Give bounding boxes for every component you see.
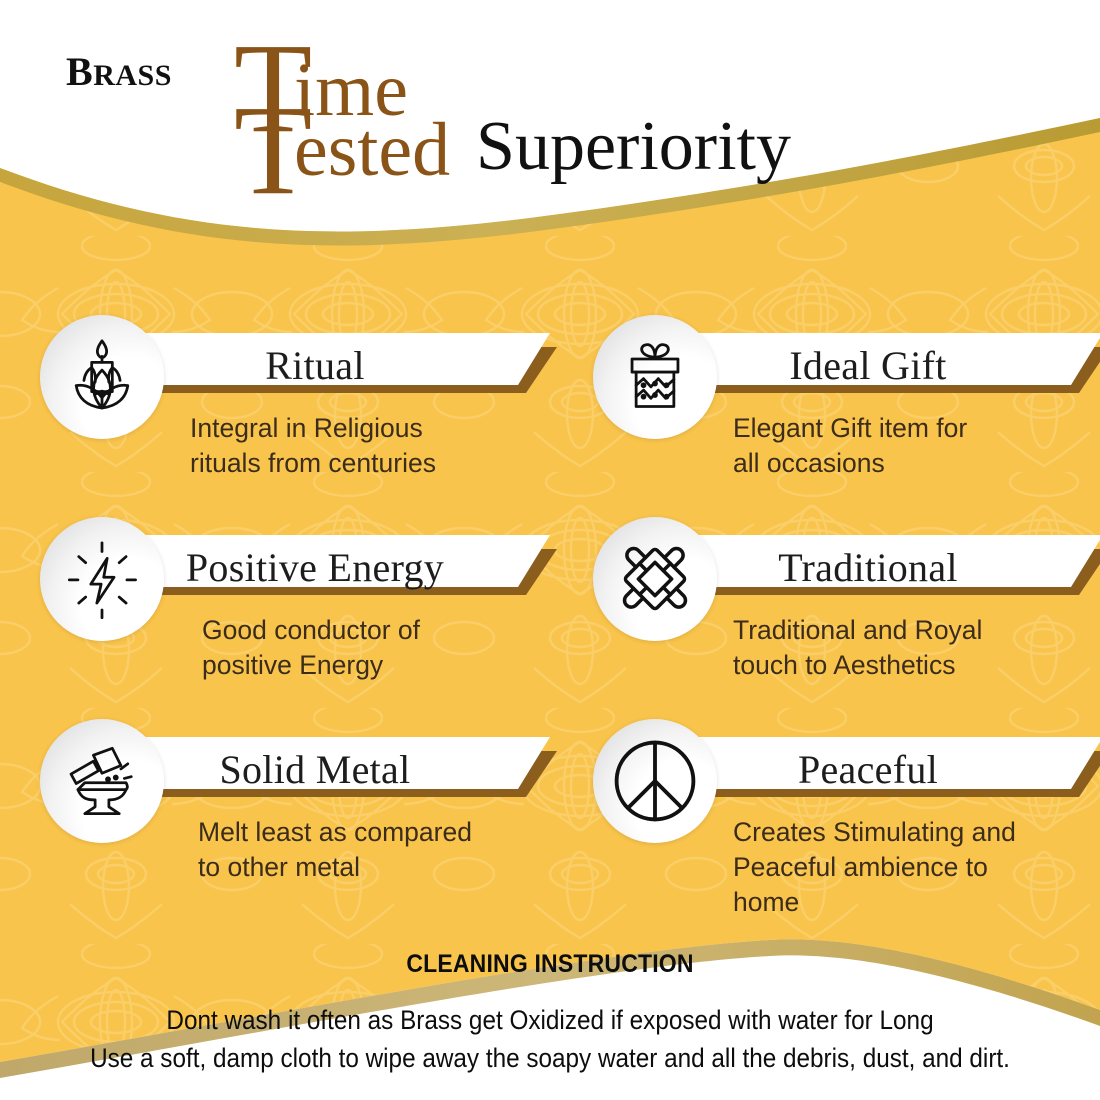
- feature-description: Elegant Gift item for all occasions: [733, 411, 1093, 481]
- feature-description: Integral in Religious rituals from centu…: [190, 411, 550, 481]
- gift-box-icon: [614, 336, 696, 418]
- candle-lotus-icon: [59, 334, 145, 420]
- cleaning-instruction-body: Dont wash it often as Brass get Oxidized…: [0, 1001, 1100, 1078]
- peace-symbol-icon: [607, 733, 703, 829]
- feature-icon-badge: [40, 517, 164, 641]
- feature-title: Ritual: [150, 337, 480, 393]
- cleaning-instruction-line-1: Dont wash it often as Brass get Oxidized…: [55, 1001, 1045, 1039]
- feature-icon-badge: [40, 315, 164, 439]
- feature-card-grid: Ritual Integral in Religious rituals fro…: [0, 0, 1100, 1100]
- hammer-anvil-icon: [59, 738, 145, 824]
- feature-description: Traditional and Royal touch to Aesthetic…: [733, 613, 1093, 683]
- cleaning-instruction-section: CLEANING INSTRUCTION Dont wash it often …: [0, 950, 1100, 1078]
- endless-knot-icon: [613, 537, 697, 621]
- feature-title: Peaceful: [703, 741, 1033, 797]
- feature-title: Solid Metal: [150, 741, 480, 797]
- lightning-bolt-icon: [59, 536, 145, 622]
- feature-icon-badge: [593, 719, 717, 843]
- feature-title: Positive Energy: [150, 539, 480, 595]
- feature-icon-badge: [40, 719, 164, 843]
- feature-icon-badge: [593, 315, 717, 439]
- feature-description: Melt least as compared to other metal: [198, 815, 558, 885]
- cleaning-instruction-line-2: Use a soft, damp cloth to wipe away the …: [55, 1039, 1045, 1077]
- feature-description: Good conductor of positive Energy: [202, 613, 562, 683]
- infographic-canvas: BRASS T ime T ested Superiority: [0, 0, 1100, 1100]
- feature-title: Traditional: [703, 539, 1033, 595]
- feature-icon-badge: [593, 517, 717, 641]
- feature-title: Ideal Gift: [703, 337, 1033, 393]
- cleaning-instruction-title: CLEANING INSTRUCTION: [44, 950, 1056, 979]
- feature-description: Creates Stimulating and Peaceful ambienc…: [733, 815, 1093, 921]
